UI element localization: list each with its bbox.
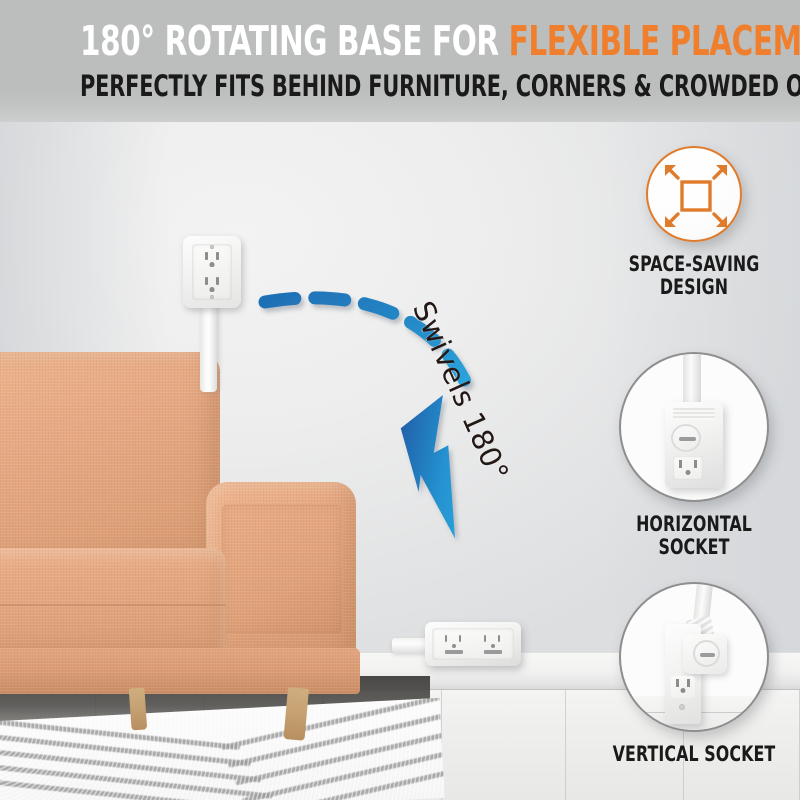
- expand-arrows-square-icon: [648, 148, 744, 244]
- wall-outlet-duplex: [183, 236, 241, 308]
- sofa: [0, 352, 400, 692]
- plate-screw: [679, 704, 685, 710]
- horizontal-socket-photo: [621, 354, 769, 502]
- infographic-canvas: Swivels 180° 180° ROTATING BASE FOR FLEX…: [0, 0, 800, 800]
- feature-label-line2: SOCKET: [610, 536, 778, 559]
- plug-face: [693, 640, 720, 667]
- socket-outlet: [671, 676, 695, 698]
- headline-accent: FLEXIBLE PLACEMENT: [509, 17, 800, 65]
- sofa-leg: [129, 687, 148, 730]
- feature-label: HORIZONTAL SOCKET: [610, 513, 778, 559]
- rotating-power-strip: [425, 622, 521, 666]
- headline-primary: 180° ROTATING BASE FOR: [80, 17, 509, 65]
- sofa-arm-panel: [222, 504, 342, 634]
- power-cord-upper: [200, 300, 217, 392]
- power-strip-outlet: [476, 631, 510, 657]
- sofa-back-cushion: [0, 352, 220, 567]
- feature-label-line1: SPACE-SAVING: [610, 253, 778, 276]
- rotating-plug-head: [683, 634, 727, 674]
- outlet-inner-plate: [192, 244, 232, 300]
- subheadline: PERFECTLY FITS BEHIND FURNITURE, CORNERS…: [80, 72, 720, 101]
- header-banner: 180° ROTATING BASE FOR FLEXIBLE PLACEMEN…: [0, 0, 800, 122]
- headline: 180° ROTATING BASE FOR FLEXIBLE PLACEMEN…: [80, 21, 720, 62]
- power-strip-face: [432, 628, 514, 660]
- feature-vertical-socket[interactable]: VERTICAL SOCKET: [594, 582, 794, 766]
- feature-icon-circle: [646, 146, 742, 242]
- feature-label: VERTICAL SOCKET: [610, 743, 778, 766]
- feature-space-saving[interactable]: SPACE-SAVING DESIGN: [594, 146, 794, 299]
- socket-outlet: [673, 456, 703, 480]
- vertical-socket-photo: [621, 584, 769, 732]
- outlet-socket: [198, 273, 226, 297]
- feature-horizontal-socket[interactable]: HORIZONTAL SOCKET: [594, 352, 794, 559]
- sofa-seat-cushion: [0, 548, 226, 658]
- socket-ribs: [673, 408, 715, 420]
- feature-label-line2: DESIGN: [610, 276, 778, 299]
- feature-photo-circle: [619, 582, 769, 732]
- feature-label-line1: HORIZONTAL: [610, 513, 778, 536]
- feature-photo-circle: [619, 352, 769, 502]
- sofa-seam: [0, 604, 226, 606]
- feature-label: SPACE-SAVING DESIGN: [610, 253, 778, 299]
- feature-label-line1: VERTICAL SOCKET: [610, 743, 778, 766]
- rotating-plug-head: [671, 424, 701, 452]
- sofa-base: [0, 648, 360, 694]
- power-strip-outlet: [437, 631, 471, 657]
- outlet-socket: [198, 248, 226, 272]
